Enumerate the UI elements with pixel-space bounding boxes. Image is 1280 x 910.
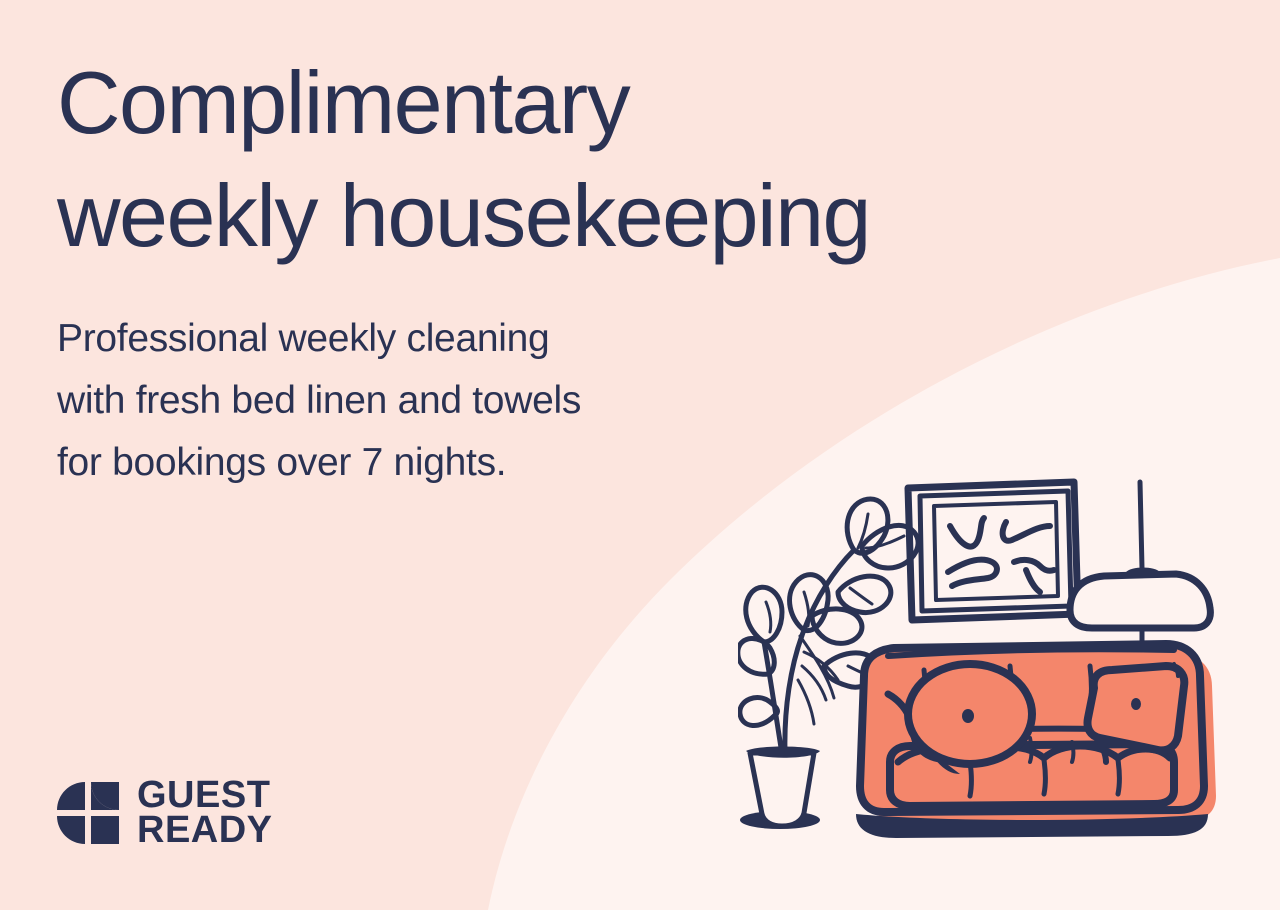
page-title: Complimentary weekly housekeeping — [57, 46, 1057, 272]
promo-card: Complimentary weekly housekeeping Profes… — [0, 0, 1280, 910]
pendant-lamp — [1070, 482, 1210, 658]
guestready-logo-mark — [57, 782, 119, 844]
framed-picture — [908, 482, 1078, 620]
page-subtitle: Professional weekly cleaning with fresh … — [57, 308, 1057, 494]
living-room-illustration — [738, 470, 1250, 890]
logo-wordmark: GUEST READY — [137, 778, 273, 848]
guestready-logo: GUEST READY — [57, 778, 273, 848]
logo-line-2: READY — [137, 813, 273, 848]
text-content: Complimentary weekly housekeeping Profes… — [57, 46, 1057, 494]
logo-line-1: GUEST — [137, 778, 273, 813]
square-pillow — [1088, 664, 1185, 762]
